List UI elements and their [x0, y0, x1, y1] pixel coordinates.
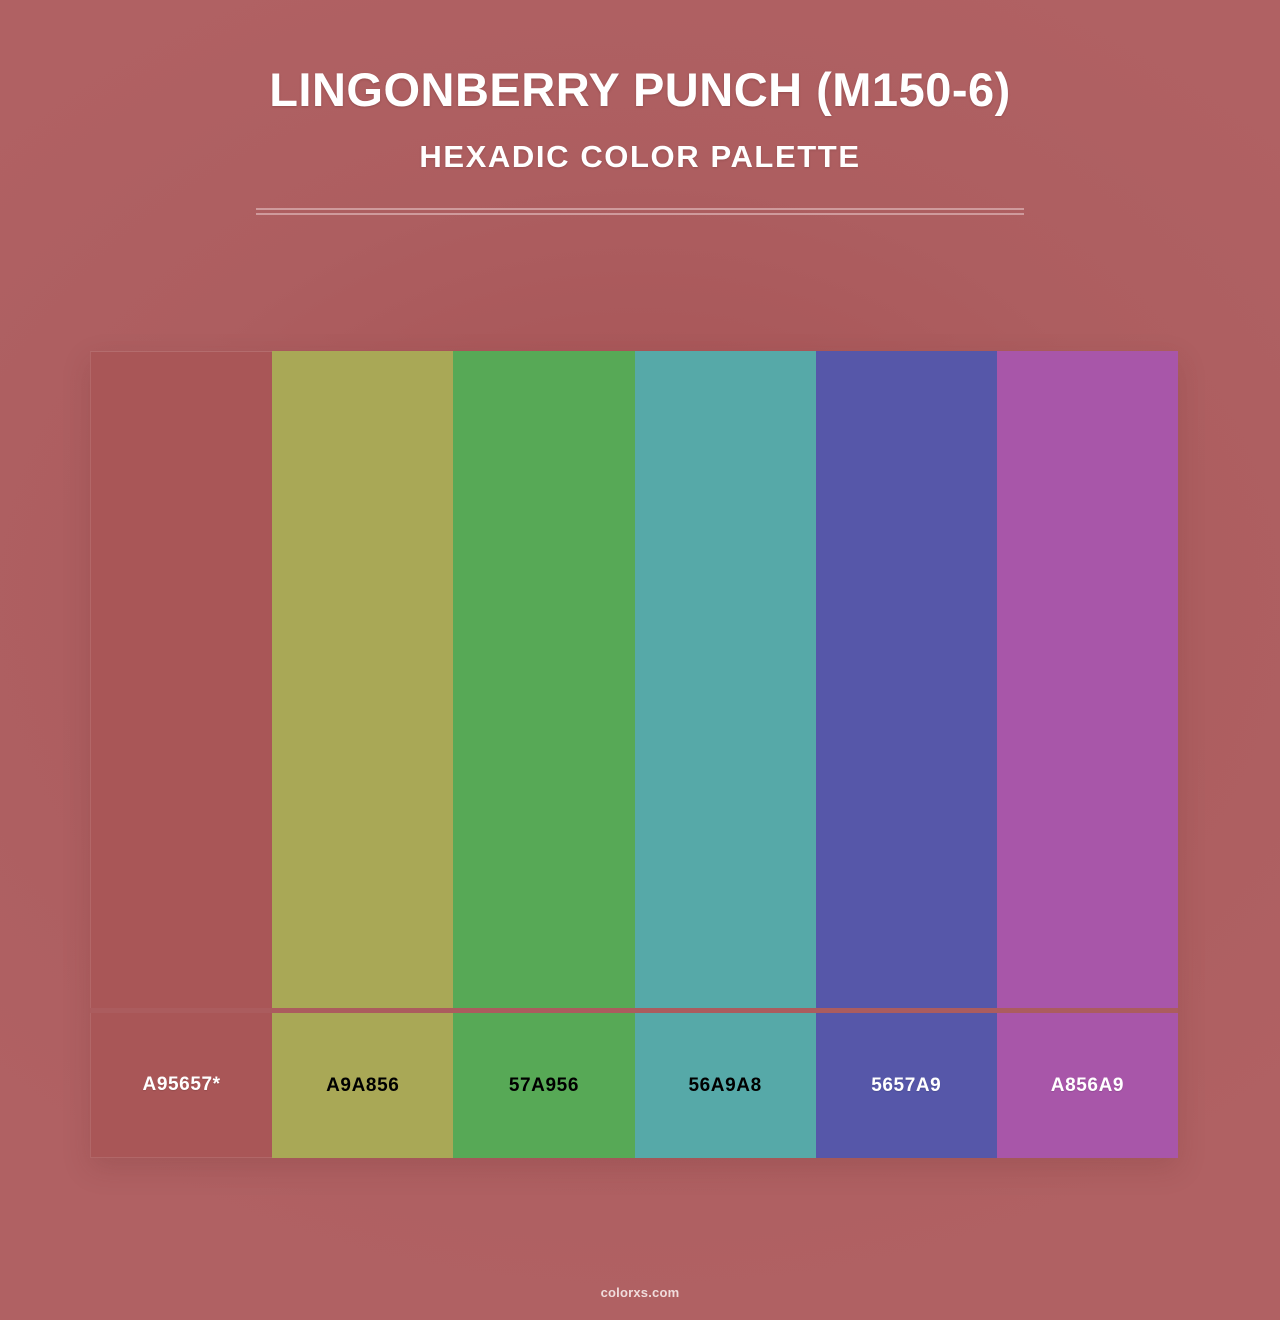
color-label-cell[interactable]: 57A956 — [453, 1013, 634, 1158]
page-footer: colorxs.com — [0, 1284, 1280, 1302]
page-header: LINGONBERRY PUNCH (M150-6) HEXADIC COLOR… — [0, 0, 1280, 215]
color-swatch[interactable] — [816, 351, 997, 1008]
color-hex-label: A9A856 — [326, 1075, 399, 1097]
color-hex-label: 5657A9 — [871, 1075, 941, 1097]
color-swatch[interactable] — [997, 351, 1178, 1008]
color-label-cell[interactable]: 5657A9 — [816, 1013, 997, 1158]
color-swatch[interactable] — [90, 351, 272, 1008]
color-label-cell[interactable]: 56A9A8 — [635, 1013, 816, 1158]
color-palette: A95657*A9A85657A95656A9A85657A9A856A9 — [90, 351, 1178, 1158]
color-hex-label: A95657* — [143, 1074, 221, 1096]
site-credit: colorxs.com — [601, 1285, 680, 1300]
page-subtitle: HEXADIC COLOR PALETTE — [0, 139, 1280, 175]
color-hex-label: A856A9 — [1051, 1075, 1124, 1097]
color-hex-label: 56A9A8 — [688, 1075, 761, 1097]
color-swatch[interactable] — [272, 351, 453, 1008]
color-label-cell[interactable]: A856A9 — [997, 1013, 1178, 1158]
color-swatch[interactable] — [635, 351, 816, 1008]
swatch-row — [90, 351, 1178, 1008]
color-label-cell[interactable]: A9A856 — [272, 1013, 453, 1158]
color-hex-label: 57A956 — [509, 1075, 579, 1097]
color-label-cell[interactable]: A95657* — [90, 1013, 272, 1158]
page-title: LINGONBERRY PUNCH (M150-6) — [0, 62, 1280, 117]
header-divider — [256, 208, 1024, 215]
color-swatch[interactable] — [453, 351, 634, 1008]
label-row: A95657*A9A85657A95656A9A85657A9A856A9 — [90, 1013, 1178, 1158]
